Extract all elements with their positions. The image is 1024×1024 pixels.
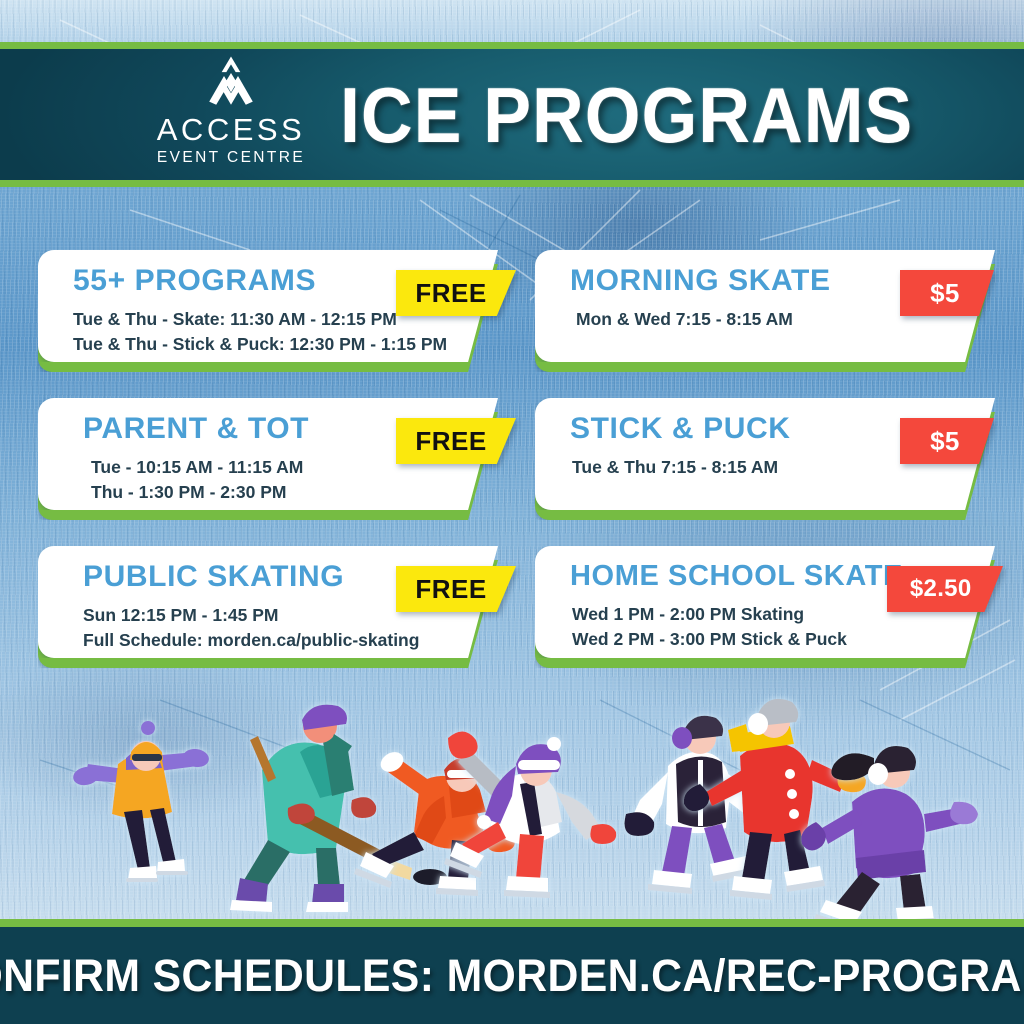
program-card[interactable]: STICK & PUCK Tue & Thu 7:15 - 8:15 AM $5 xyxy=(525,398,995,520)
program-card[interactable]: MORNING SKATE Mon & Wed 7:15 - 8:15 AM $… xyxy=(525,250,995,372)
top-green-divider xyxy=(0,42,1024,49)
price-badge: $5 xyxy=(900,418,994,464)
ice-programs-poster: ACCESS EVENT CENTRE ICE PROGRAMS 55+ PRO… xyxy=(0,0,1024,1024)
price-badge-label: FREE xyxy=(415,426,486,457)
hockey-player-teal-jacket-with-stick-and-puck xyxy=(230,705,447,912)
price-badge: $5 xyxy=(900,270,994,316)
page-title: ICE PROGRAMS xyxy=(340,76,913,154)
price-badge-label: FREE xyxy=(415,278,486,309)
footer-green-divider xyxy=(0,919,1024,927)
price-badge: $2.50 xyxy=(887,566,1003,612)
program-card[interactable]: HOME SCHOOL SKATE Wed 1 PM - 2:00 PM Ska… xyxy=(525,546,995,668)
program-card[interactable]: PUBLIC SKATING Sun 12:15 PM - 1:45 PM Fu… xyxy=(28,546,498,668)
header-bottom-green-divider xyxy=(0,180,1024,187)
price-badge-label: $5 xyxy=(930,278,960,309)
price-badge: FREE xyxy=(396,566,516,612)
card-schedule-line: Full Schedule: morden.ca/public-skating xyxy=(83,628,498,653)
child-skater-yellow-coat xyxy=(71,721,210,882)
card-schedule-line: Wed 2 PM - 3:00 PM Stick & Puck xyxy=(572,627,995,652)
access-event-centre-logo: ACCESS EVENT CENTRE xyxy=(136,55,326,175)
access-chevron-a-logo-icon xyxy=(192,55,270,111)
ice-skaters-illustration xyxy=(0,672,1024,922)
footer-banner: CONFIRM SCHEDULES: MORDEN.CA/REC-PROGRAM… xyxy=(0,927,1024,1024)
card-schedule-line: Tue & Thu - Stick & Puck: 12:30 PM - 1:1… xyxy=(73,332,498,357)
price-badge: FREE xyxy=(396,418,516,464)
price-badge-label: FREE xyxy=(415,574,486,605)
program-card[interactable]: 55+ PROGRAMS Tue & Thu - Skate: 11:30 AM… xyxy=(28,250,498,372)
logo-wordmark: ACCESS xyxy=(157,114,305,145)
price-badge-label: $5 xyxy=(930,426,960,457)
logo-subtitle: EVENT CENTRE xyxy=(157,150,305,166)
card-schedule-line: Thu - 1:30 PM - 2:30 PM xyxy=(91,480,498,505)
footer-text: CONFIRM SCHEDULES: MORDEN.CA/REC-PROGRAM… xyxy=(0,950,1024,1002)
price-badge: FREE xyxy=(396,270,516,316)
program-card-grid: 55+ PROGRAMS Tue & Thu - Skate: 11:30 AM… xyxy=(0,250,1024,680)
price-badge-label: $2.50 xyxy=(910,575,972,603)
header-banner: ACCESS EVENT CENTRE ICE PROGRAMS xyxy=(0,49,1024,180)
program-card[interactable]: PARENT & TOT Tue - 10:15 AM - 11:15 AM T… xyxy=(28,398,498,520)
